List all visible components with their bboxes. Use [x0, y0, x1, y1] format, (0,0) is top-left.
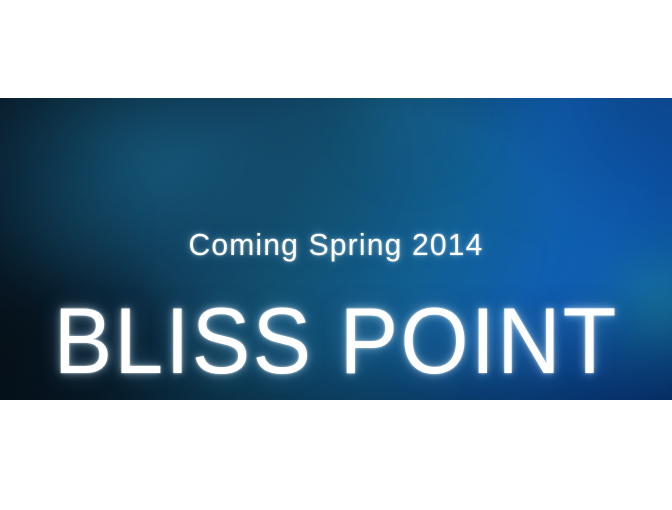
tagline-text: Coming Spring 2014 — [10, 227, 662, 263]
show-title: BLISS POINT — [0, 294, 672, 387]
poster-canvas: Coming Spring 2014 BLISS POINT Written b… — [0, 0, 672, 510]
promotional-banner: Coming Spring 2014 BLISS POINT Written b… — [0, 98, 672, 400]
